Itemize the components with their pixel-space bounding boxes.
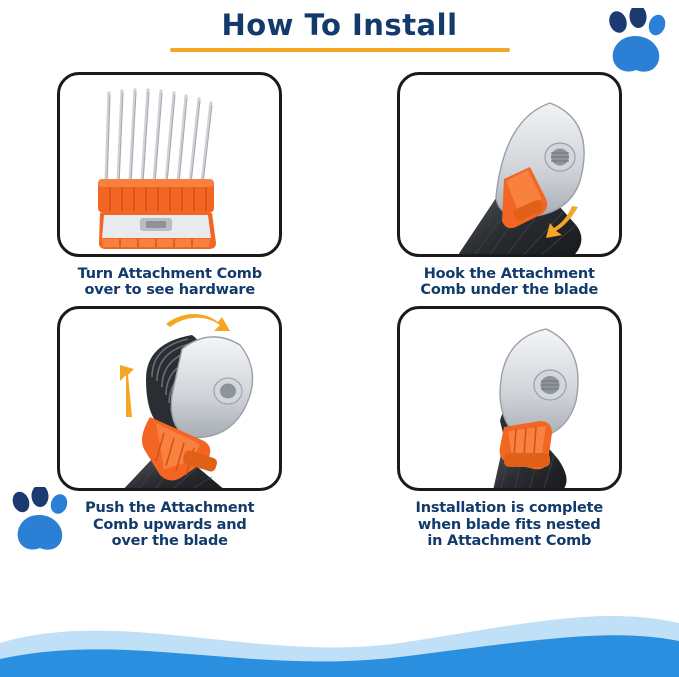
caption-line: over the blade: [40, 533, 300, 549]
caption-line: when blade fits nested: [379, 517, 639, 533]
steps-row-2: Push the Attachment Comb upwards and ove…: [0, 306, 679, 549]
steps-grid: Turn Attachment Comb over to see hardwar…: [0, 72, 679, 549]
step-3: Push the Attachment Comb upwards and ove…: [0, 306, 340, 549]
step-1-caption: Turn Attachment Comb over to see hardwar…: [40, 266, 300, 298]
step-1: Turn Attachment Comb over to see hardwar…: [0, 72, 340, 298]
caption-line: over to see hardware: [40, 282, 300, 298]
caption-line: in Attachment Comb: [379, 533, 639, 549]
comb-hooked-under-blade-illustration: [397, 72, 622, 257]
paw-print-icon: [601, 8, 671, 78]
caption-line: Turn Attachment Comb: [40, 266, 300, 282]
title-underline: [170, 48, 510, 52]
comb-pushed-up-over-blade-illustration: [57, 306, 282, 491]
step-4-caption: Installation is complete when blade fits…: [379, 500, 639, 549]
caption-line: Hook the Attachment: [379, 266, 639, 282]
caption-line: Push the Attachment: [40, 500, 300, 516]
caption-line: Comb under the blade: [379, 282, 639, 298]
caption-line: Comb upwards and: [40, 517, 300, 533]
caption-line: Installation is complete: [379, 500, 639, 516]
step-2: Hook the Attachment Comb under the blade: [340, 72, 679, 298]
comb-installed-complete-illustration: [397, 306, 622, 491]
page-title: How To Install: [0, 8, 679, 42]
step-2-caption: Hook the Attachment Comb under the blade: [379, 266, 639, 298]
wave-decoration: [0, 587, 679, 677]
step-4: Installation is complete when blade fits…: [340, 306, 679, 549]
attachment-comb-underside-illustration: [57, 72, 282, 257]
step-3-caption: Push the Attachment Comb upwards and ove…: [40, 500, 300, 549]
header: How To Install: [0, 8, 679, 52]
steps-row-1: Turn Attachment Comb over to see hardwar…: [0, 72, 679, 298]
